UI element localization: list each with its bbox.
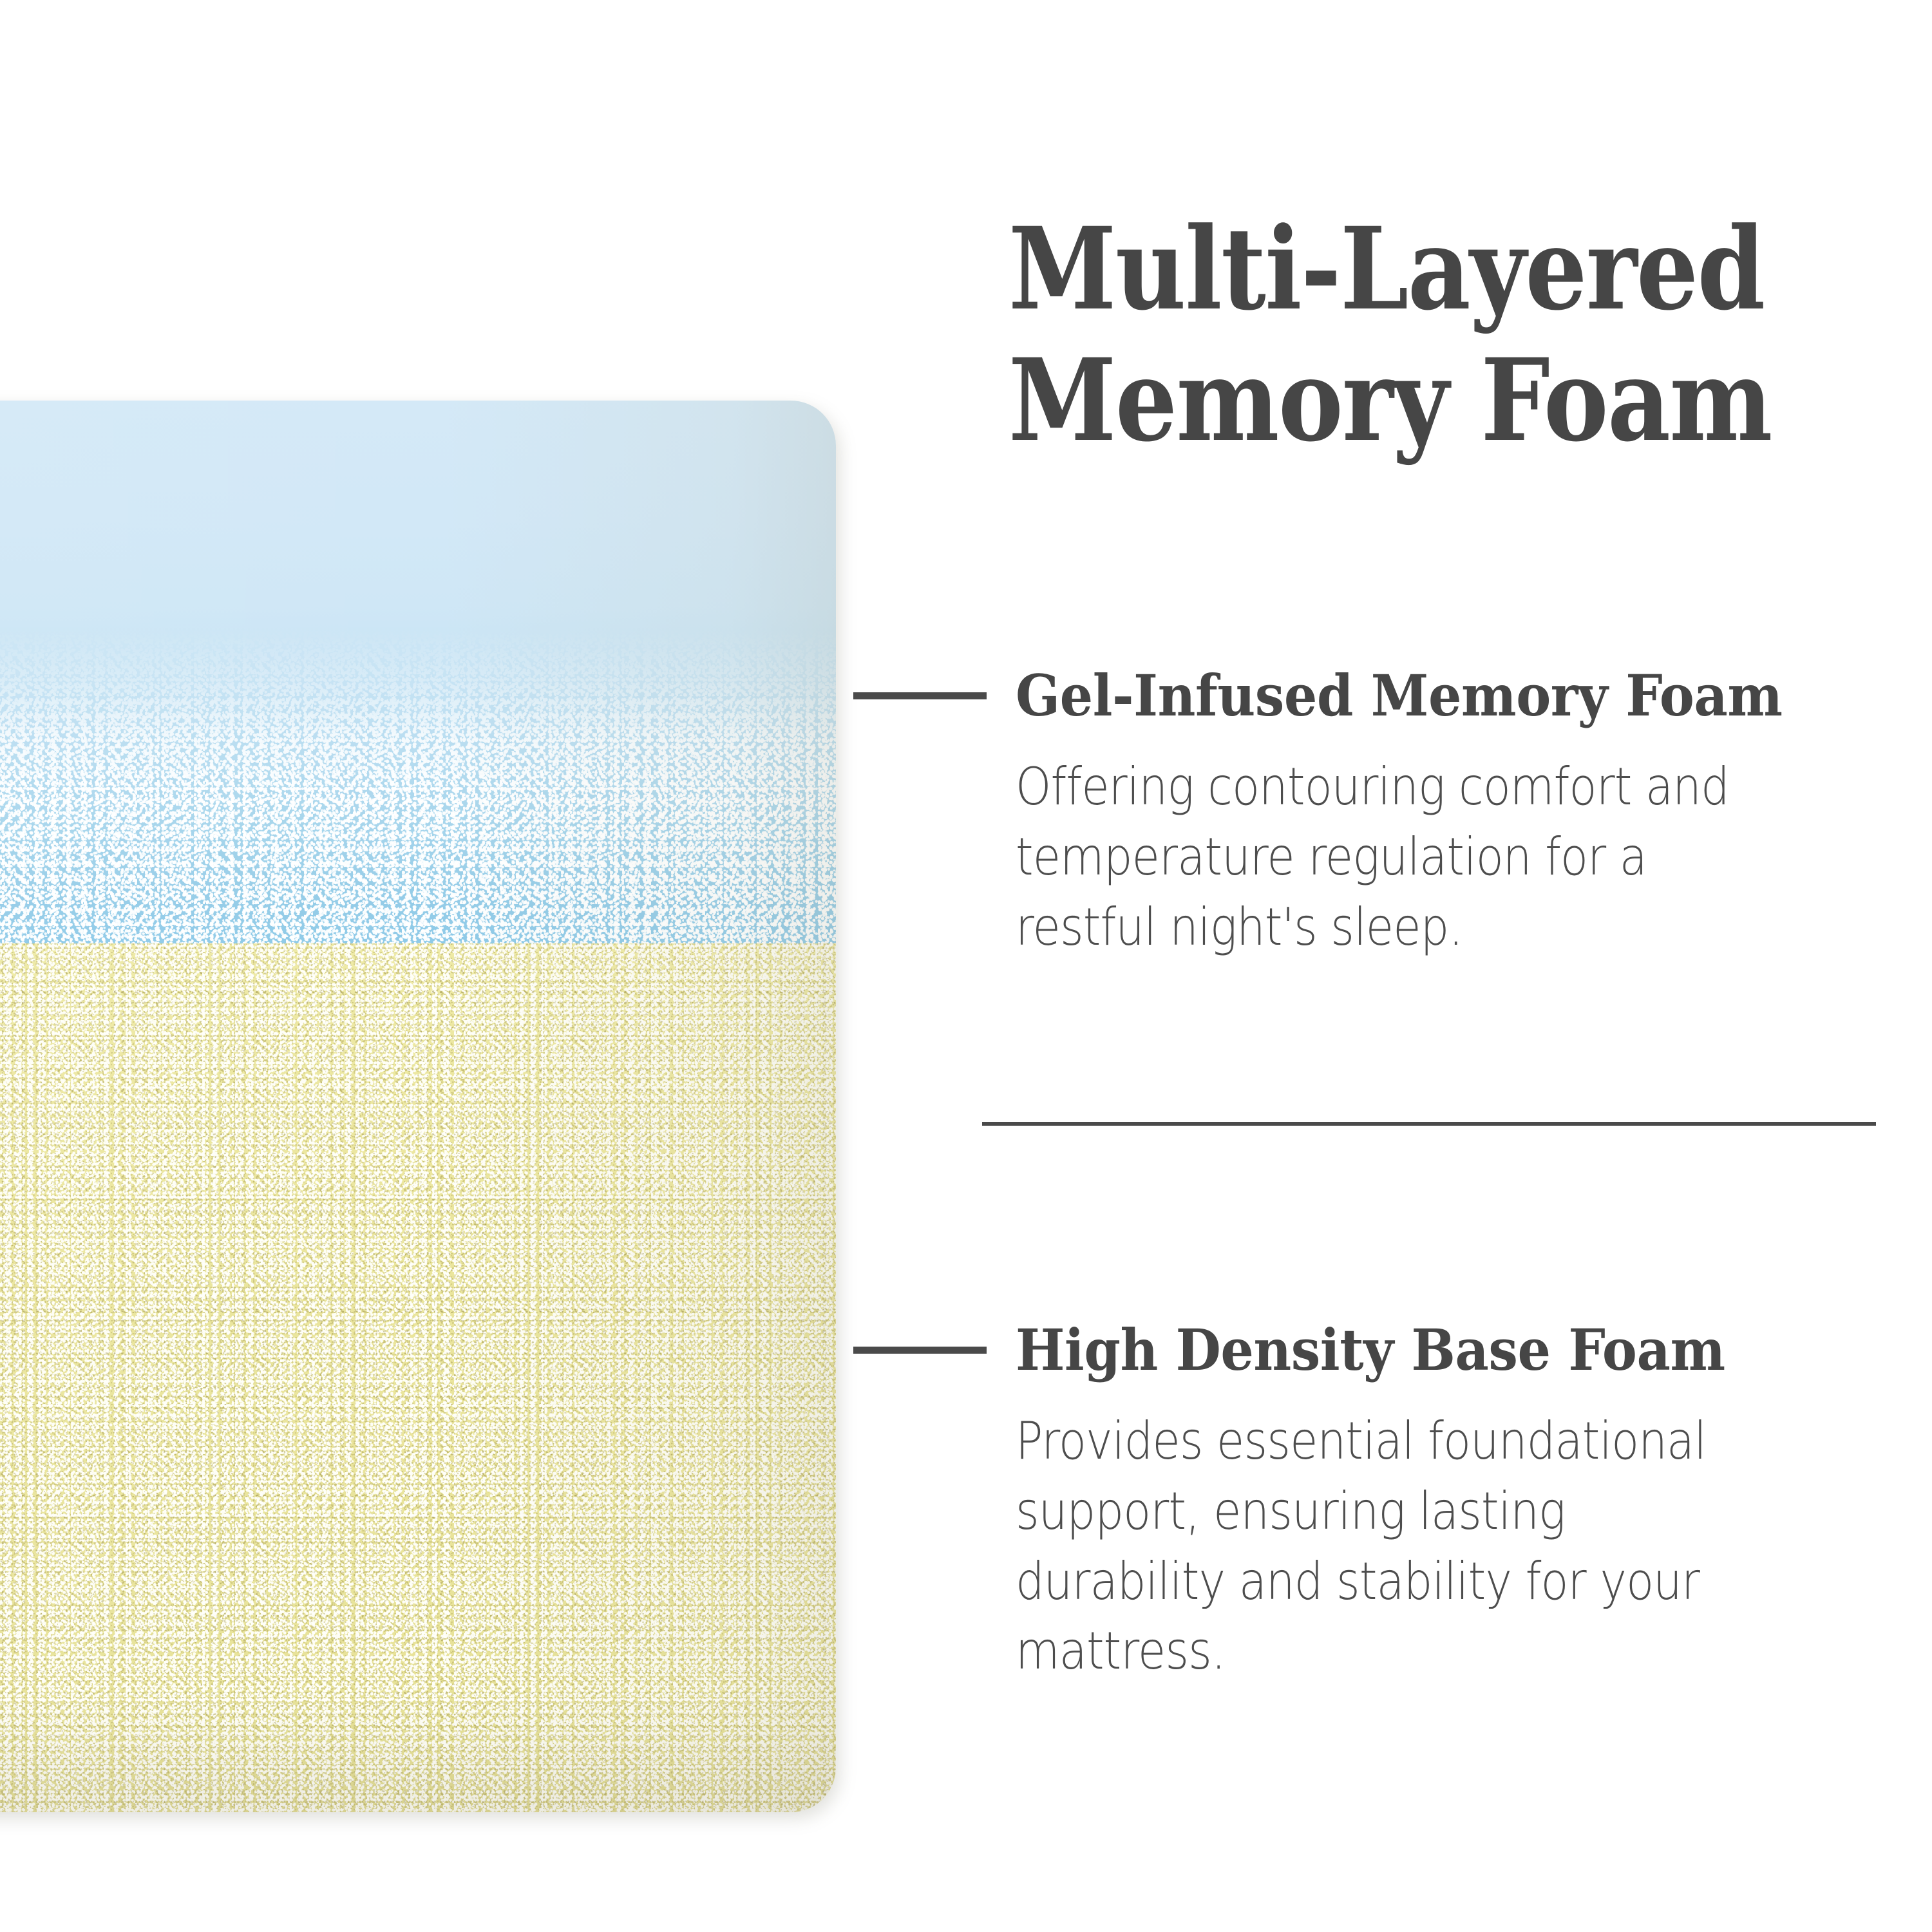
section-heading-row: Gel-Infused Memory Foam <box>853 667 1897 724</box>
section-high-density-base-foam: High Density Base Foam Provides essentia… <box>853 1321 1897 1687</box>
infographic-page: Multi-Layered Memory Foam Gel-Infused Me… <box>0 0 1932 1932</box>
gel-infused-memory-foam-layer <box>0 401 836 943</box>
page-title: Multi-Layered Memory Foam <box>1009 204 1784 466</box>
section-heading-gel: Gel-Infused Memory Foam <box>1016 667 1783 724</box>
connector-dash-icon <box>853 692 987 699</box>
section-gel-infused-memory-foam: Gel-Infused Memory Foam Offering contour… <box>853 667 1897 962</box>
base-foam-pore-texture <box>0 943 836 1812</box>
high-density-base-foam-layer <box>0 943 836 1812</box>
gel-foam-pore-texture <box>0 401 836 943</box>
section-body-base: Provides essential foundational support,… <box>1016 1406 1741 1687</box>
section-divider <box>982 1122 1876 1126</box>
section-body-gel: Offering contouring comfort and temperat… <box>1016 752 1741 962</box>
connector-dash-icon <box>853 1347 987 1354</box>
section-heading-base: High Density Base Foam <box>1016 1321 1725 1378</box>
section-heading-row: High Density Base Foam <box>853 1321 1897 1378</box>
mattress-foam-cross-section <box>0 401 836 1812</box>
